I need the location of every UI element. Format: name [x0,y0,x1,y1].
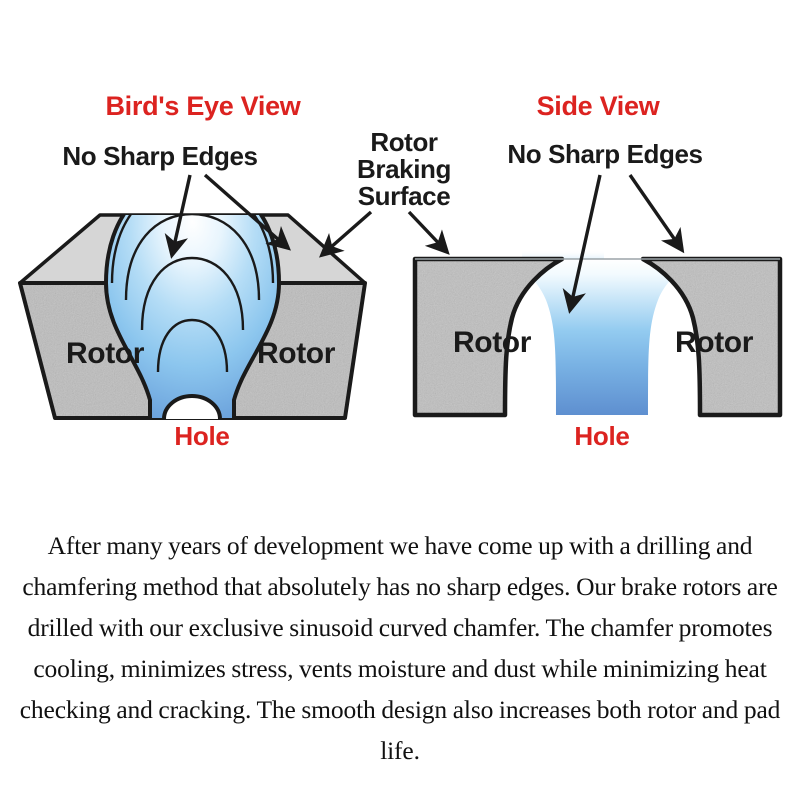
birds-eye-heading: Bird's Eye View [105,91,301,121]
body-paragraph: After many years of development we have … [6,525,794,771]
birds-eye-rotor-right-label: Rotor [257,337,336,370]
diagram-stage: Rotor Rotor Bird's Eye View No Sharp Edg… [0,0,800,800]
birds-eye-rotor-left-label: Rotor [66,337,145,370]
birds-eye-no-sharp-edges-label: No Sharp Edges [62,141,257,171]
side-view-hole-label: Hole [574,421,629,451]
side-view-no-sharp-edges-arrow-right [630,175,682,250]
side-view-diagram: Rotor Rotor Side View No Sharp Edges Hol… [415,91,780,451]
birds-eye-diagram: Rotor Rotor Bird's Eye View No Sharp Edg… [20,91,365,451]
rotor-braking-surface-callout: Rotor Braking Surface [322,127,451,255]
side-view-heading: Side View [537,91,661,121]
rotor-braking-surface-arrow-right [409,212,447,252]
side-view-no-sharp-edges-label: No Sharp Edges [507,139,702,169]
rotor-braking-surface-line-1: Rotor [370,127,438,157]
rotor-braking-surface-line-3: Surface [358,181,451,211]
rotor-braking-surface-line-2: Braking [357,154,451,184]
birds-eye-hole-label: Hole [174,421,229,451]
rotor-braking-surface-arrow-left [322,212,371,255]
side-view-rotor-right-label: Rotor [675,326,754,359]
side-view-rotor-left-label: Rotor [453,326,532,359]
